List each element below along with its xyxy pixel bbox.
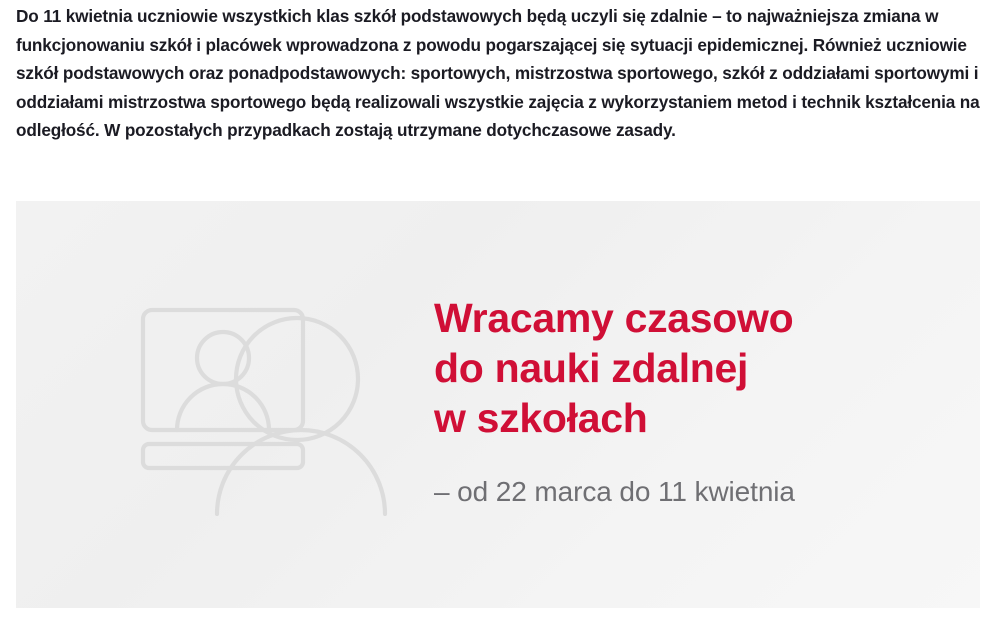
banner-subline: – od 22 marca do 11 kwietnia xyxy=(434,443,954,509)
article-paragraph-block: Do 11 kwietnia uczniowie wszystkich klas… xyxy=(16,2,982,145)
remote-learning-icon xyxy=(121,296,411,516)
page-root: Do 11 kwietnia uczniowie wszystkich klas… xyxy=(0,0,997,624)
banner-headline-line-2: do nauki zdalnej xyxy=(434,343,954,393)
large-person-head-icon xyxy=(236,318,358,440)
banner-text-block: Wracamy czasowo do nauki zdalnej w szkoł… xyxy=(434,293,954,509)
monitor-frame-icon xyxy=(143,310,303,430)
article-banner-image: Wracamy czasowo do nauki zdalnej w szkoł… xyxy=(16,201,980,608)
banner-headline-line-3: w szkołach xyxy=(434,393,954,443)
banner-headline-line-1: Wracamy czasowo xyxy=(434,293,954,343)
remote-learning-icon-svg xyxy=(121,296,411,516)
banner-content: Wracamy czasowo do nauki zdalnej w szkoł… xyxy=(16,201,980,608)
monitor-base-icon xyxy=(143,444,303,468)
article-paragraph: Do 11 kwietnia uczniowie wszystkich klas… xyxy=(16,2,982,145)
banner-headline: Wracamy czasowo do nauki zdalnej w szkoł… xyxy=(434,293,954,443)
